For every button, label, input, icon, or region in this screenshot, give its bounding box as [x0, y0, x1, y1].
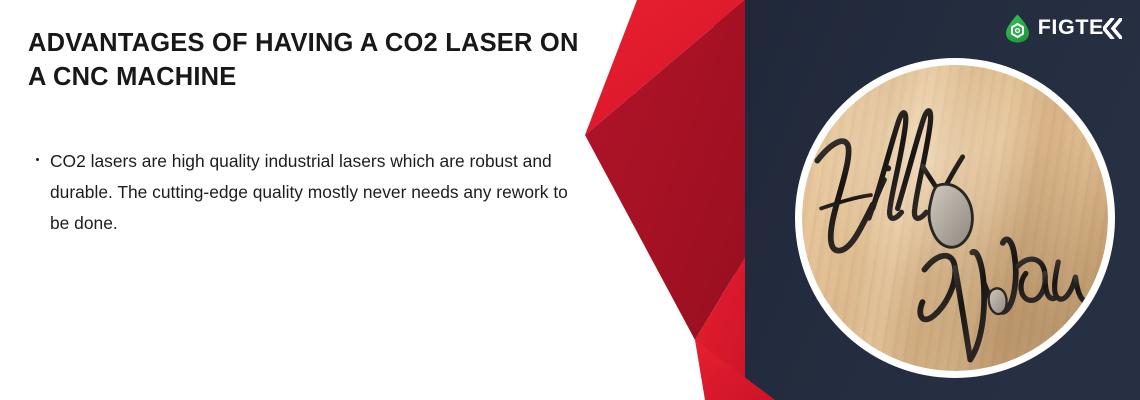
engraved-pocket-secondary	[989, 288, 1007, 314]
double-chevron-k-icon	[1103, 18, 1122, 39]
list-item-text: CO2 lasers are high quality industrial l…	[50, 151, 568, 233]
text-column: Advantages of having a CO2 laser on a CN…	[0, 0, 600, 400]
figtek-wordmark: FIGTE	[1038, 17, 1122, 39]
laser-engraved-wood-signature-photo	[795, 58, 1115, 378]
engraved-signature-lilly-mau	[802, 65, 1108, 371]
figtek-wordmark-text: FIGTE	[1038, 17, 1104, 39]
page-title: Advantages of having a CO2 laser on a CN…	[28, 26, 588, 95]
wood-surface	[802, 65, 1108, 371]
list-item: CO2 lasers are high quality industrial l…	[36, 146, 581, 239]
promo-banner: FIGTE Advantages of having a CO2 laser o…	[0, 0, 1140, 400]
bullet-dot-icon	[36, 158, 39, 161]
figtek-droplet-hexagon-icon	[1004, 14, 1031, 43]
bullet-list: CO2 lasers are high quality industrial l…	[36, 146, 581, 239]
figtek-logo[interactable]: FIGTE	[1004, 13, 1122, 43]
engraved-pocket	[929, 184, 972, 247]
